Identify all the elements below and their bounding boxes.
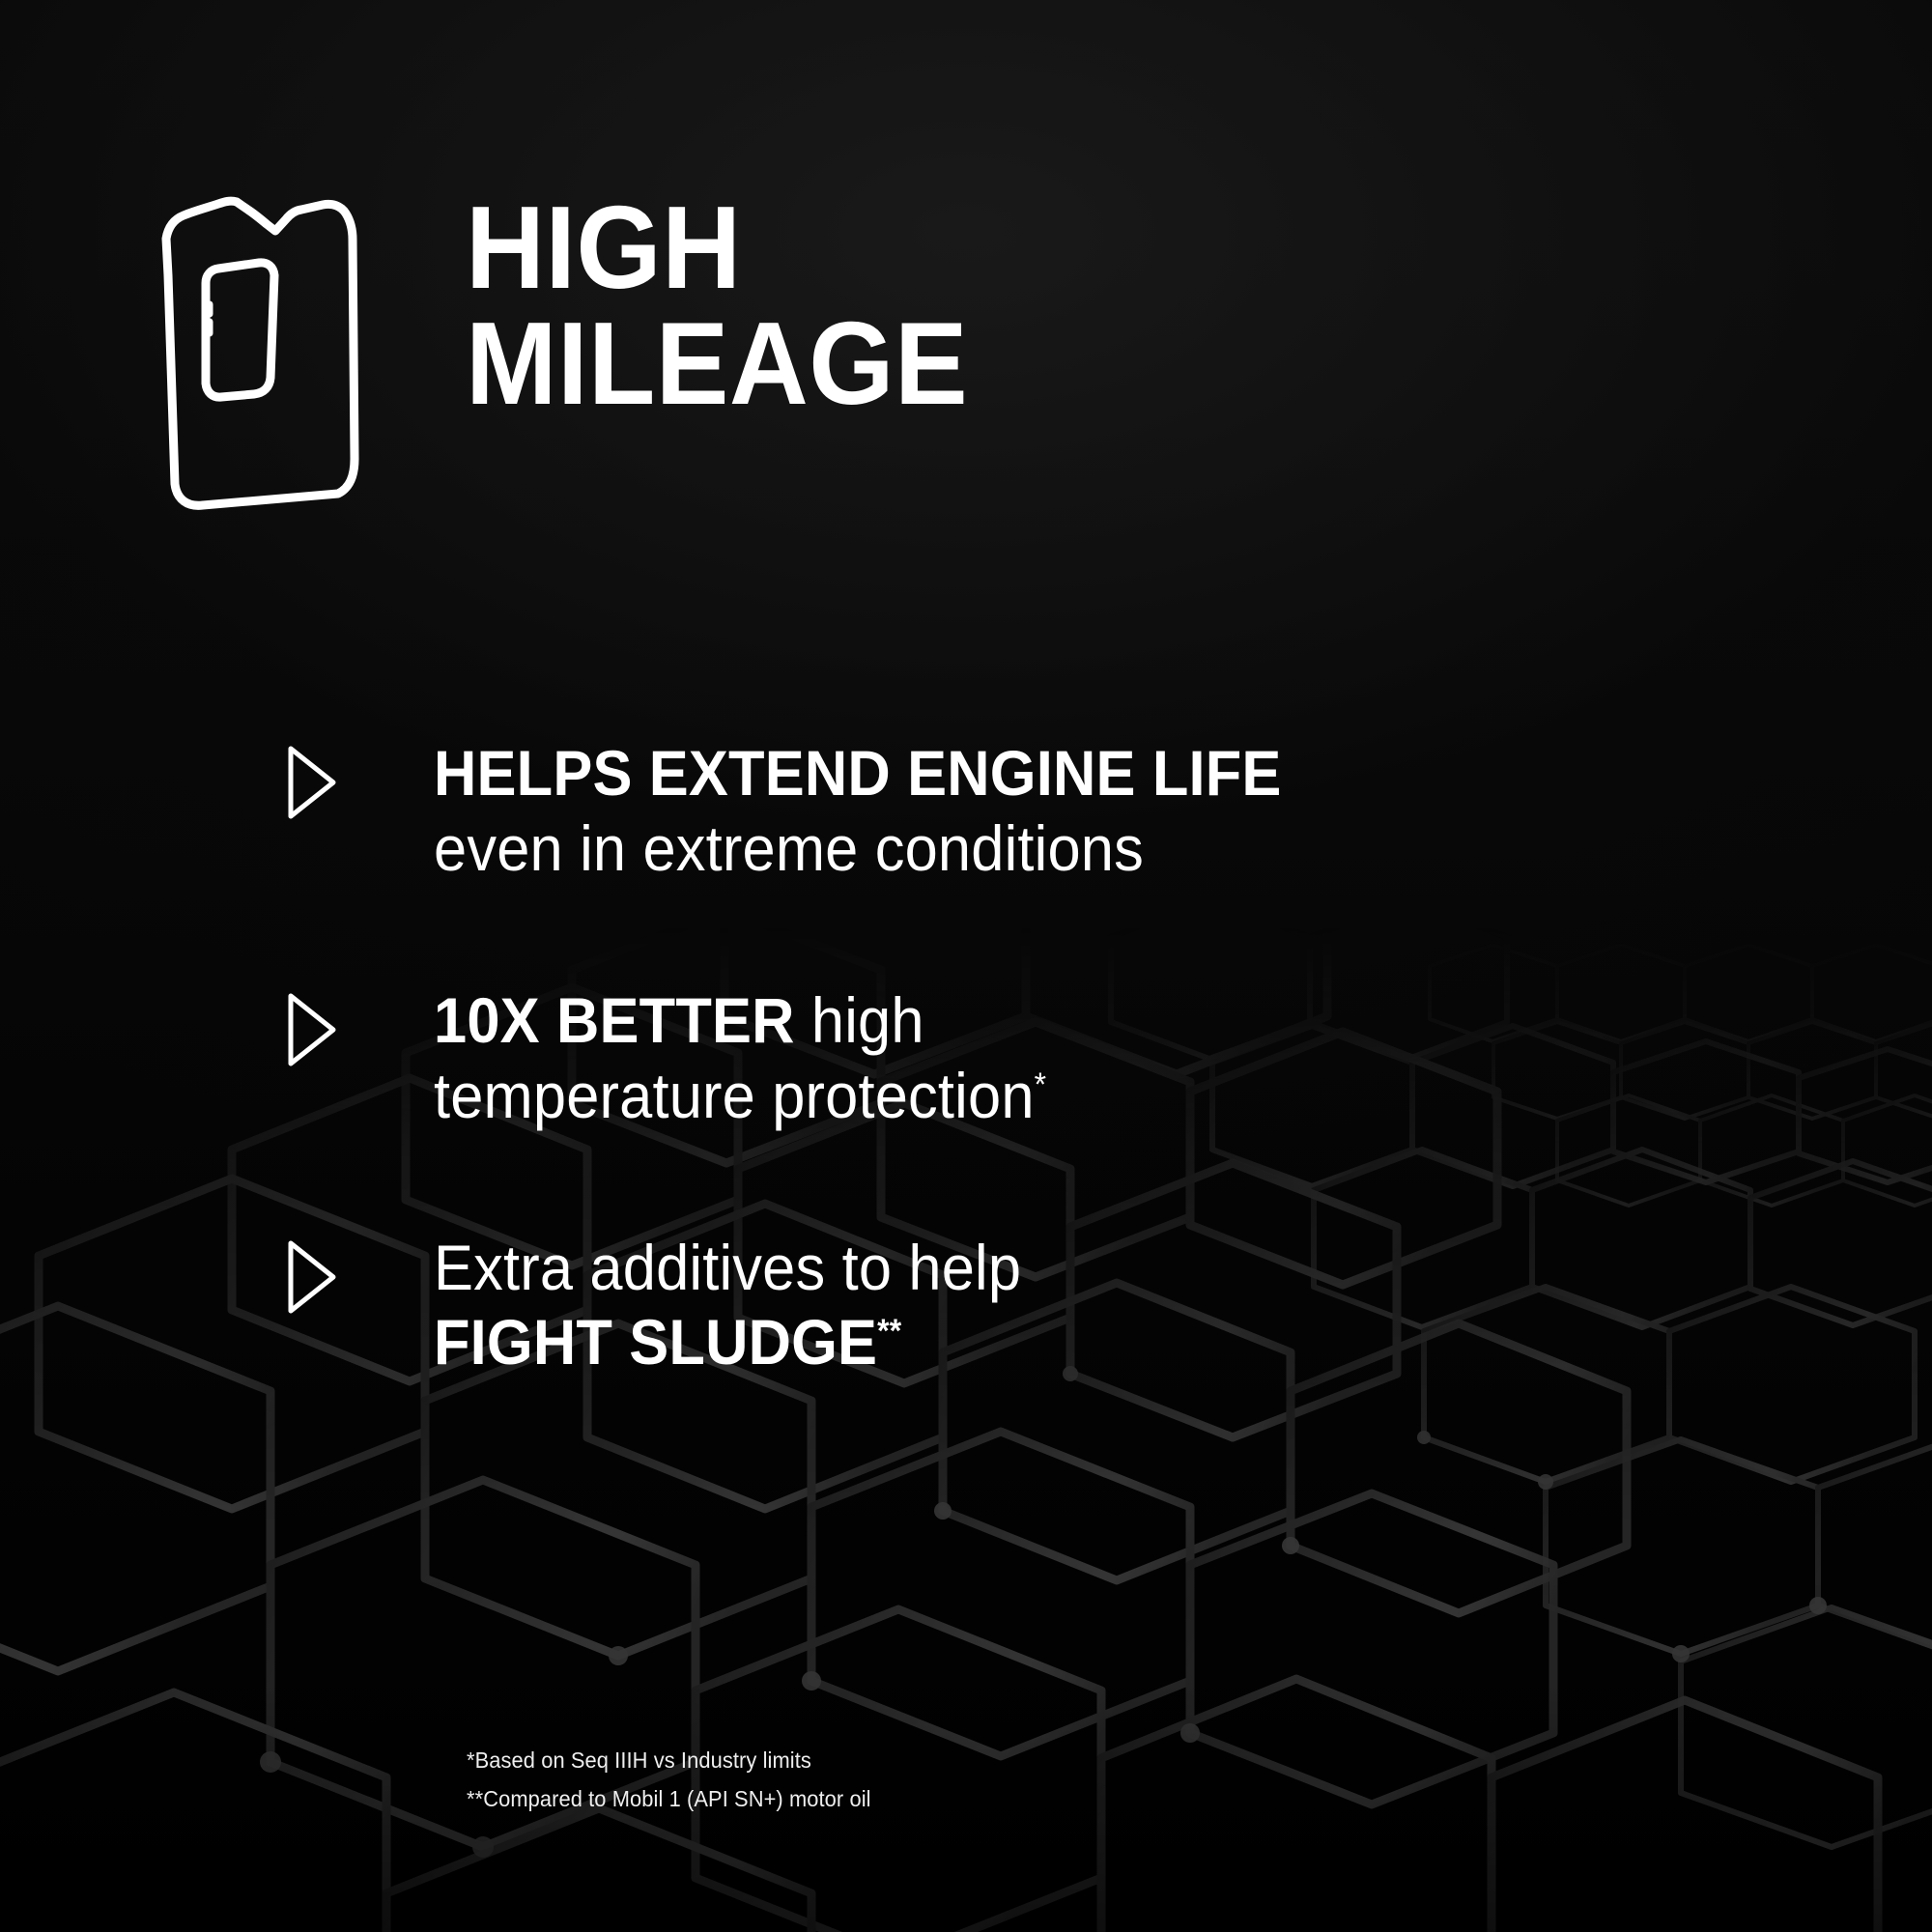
triangle-right-outline-icon	[285, 991, 339, 1068]
list-item-text: HELPS EXTEND ENGINE LIFE even in extreme…	[434, 736, 1282, 887]
bullet-1-line-1: HELPS EXTEND ENGINE LIFE	[434, 737, 1282, 809]
footnote-1: *Based on Seq IIIH vs Industry limits	[467, 1742, 871, 1780]
list-item: HELPS EXTEND ENGINE LIFE even in extreme…	[285, 736, 1657, 887]
bullet-2-line-1-bold: 10X BETTER	[434, 984, 795, 1056]
oil-bottle-icon	[145, 169, 377, 536]
page-content: HIGH MILEAGE HELPS EXTEND ENGINE LIFE ev…	[0, 0, 1932, 1932]
title-line-2: MILEAGE	[466, 306, 968, 422]
footnote-2: **Compared to Mobil 1 (API SN+) motor oi…	[467, 1780, 871, 1819]
list-item: 10X BETTER high temperature protection*	[285, 983, 1657, 1134]
bullet-2-line-2: temperature protection	[434, 1060, 1035, 1131]
title-line-1: HIGH	[466, 190, 968, 306]
list-item-text: Extra additives to help FIGHT SLUDGE**	[434, 1231, 1021, 1381]
page-title: HIGH MILEAGE	[466, 169, 1006, 421]
bullet-2-superscript: *	[1035, 1066, 1047, 1103]
bullet-2-line-1-regular: high	[795, 984, 924, 1056]
list-item-text: 10X BETTER high temperature protection*	[434, 983, 1046, 1134]
triangle-right-outline-icon	[285, 1238, 339, 1316]
bullet-3-line-1: Extra additives to help	[434, 1232, 1021, 1303]
triangle-right-outline-icon	[285, 744, 339, 821]
feature-list: HELPS EXTEND ENGINE LIFE even in extreme…	[285, 736, 1657, 1380]
list-item: Extra additives to help FIGHT SLUDGE**	[285, 1231, 1657, 1381]
footnotes: *Based on Seq IIIH vs Industry limits **…	[467, 1742, 871, 1818]
bullet-3-superscript: **	[877, 1313, 901, 1350]
bullet-1-line-2: even in extreme conditions	[434, 812, 1144, 884]
bullet-3-line-2-bold: FIGHT SLUDGE	[434, 1306, 877, 1378]
header-block: HIGH MILEAGE	[145, 169, 1006, 536]
